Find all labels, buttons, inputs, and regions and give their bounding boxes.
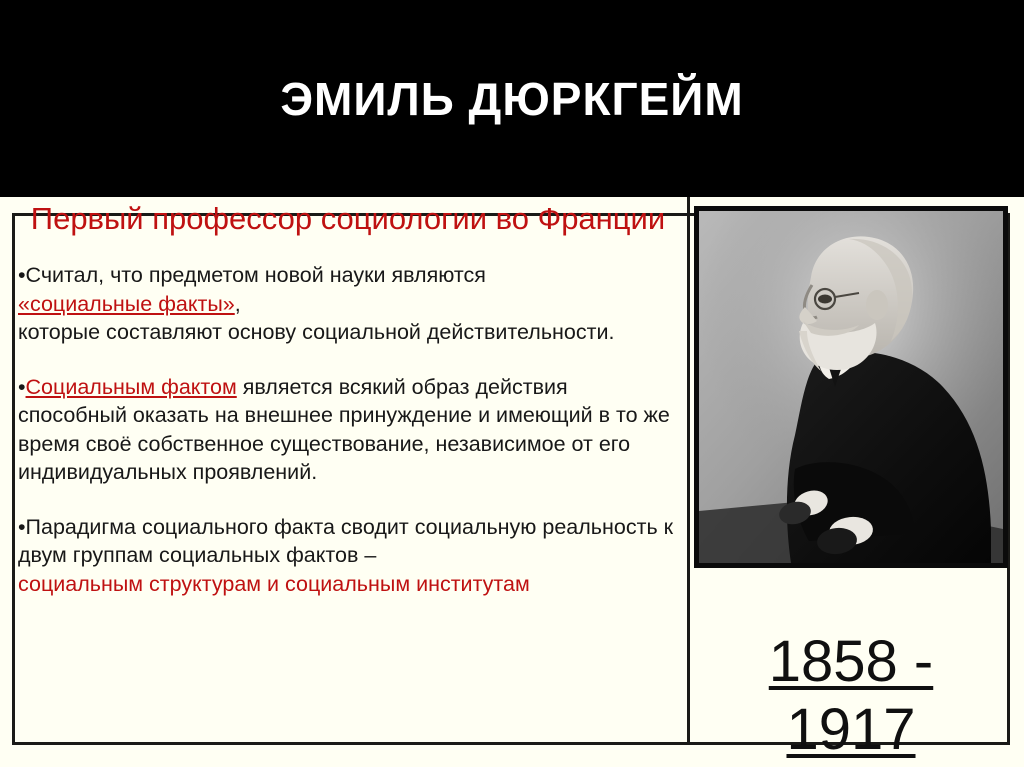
text-column: Первый профессор социологии во Франции •… — [18, 200, 678, 598]
portrait-photo — [694, 206, 1008, 568]
bullet-3-red-tail: социальным структурам и социальным инсти… — [18, 572, 530, 596]
page-title: ЭМИЛЬ ДЮРКГЕЙМ — [0, 72, 1024, 126]
slide: ЭМИЛЬ ДЮРКГЕЙМ Первый профессор социолог… — [0, 0, 1024, 767]
bullet-3-rest: Парадигма социального факта сводит социа… — [18, 515, 673, 568]
column-divider — [687, 197, 690, 745]
bullet-2-highlight: Социальным фактом — [26, 375, 237, 399]
bullet-marker: • — [18, 375, 26, 399]
bullet-1-highlight: «социальные факты» — [18, 292, 235, 316]
bullet-paragraph-1: •Считал, что предметом новой науки являю… — [18, 261, 678, 347]
bullet-marker: • — [18, 515, 26, 539]
portrait-illustration — [699, 211, 1003, 563]
section-heading: Первый профессор социологии во Франции — [18, 200, 678, 237]
bullet-1-after-highlight: , — [235, 292, 241, 316]
death-year: 1917 — [786, 697, 915, 762]
birth-year: 1858 - — [769, 629, 933, 694]
bullet-paragraph-3: •Парадигма социального факта сводит соци… — [18, 513, 678, 599]
title-band: ЭМИЛЬ ДЮРКГЕЙМ — [0, 0, 1024, 197]
bullet-marker: • — [18, 263, 26, 287]
bullet-paragraph-2: •Социальным фактом является всякий образ… — [18, 373, 678, 487]
life-dates: 1858 - 1917 — [694, 628, 1008, 764]
bullet-1-lead: Считал, что предметом новой науки являют… — [26, 263, 486, 287]
bullet-1-rest: которые составляют основу социальной дей… — [18, 320, 614, 344]
